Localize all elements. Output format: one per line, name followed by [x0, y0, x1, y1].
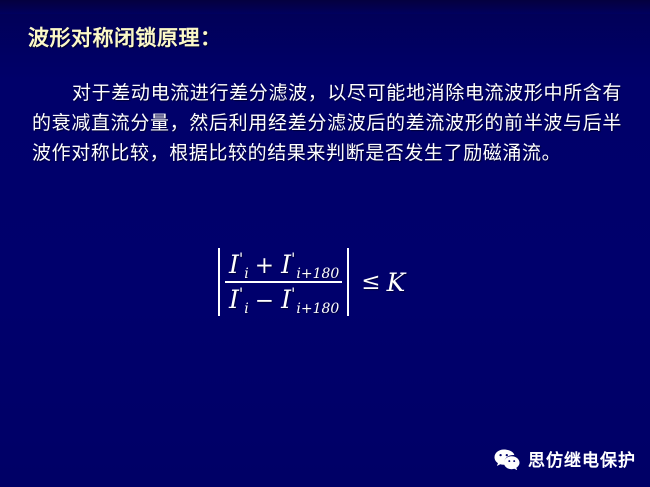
fraction-denominator: I'i − I'i+180 [225, 283, 342, 316]
numerator-left-variable: I [229, 250, 239, 279]
wechat-icon [494, 448, 520, 470]
fraction: I'i + I'i+180 I'i − I'i+180 [225, 248, 342, 316]
numerator-left-subscript: i [244, 266, 248, 282]
body-paragraph: 对于差动电流进行差分滤波，以尽可能地消除电流波形中所含有的衰减直流分量，然后利用… [32, 78, 622, 168]
denominator-left-variable: I [229, 285, 239, 314]
denominator-left-subscript: i [244, 301, 248, 317]
fraction-numerator: I'i + I'i+180 [225, 248, 342, 281]
relation-symbol: ≤ [361, 269, 380, 295]
watermark: 思仿继电保护 [494, 446, 636, 471]
denominator-left-prime: ' [239, 284, 243, 303]
threshold-constant: K [387, 268, 406, 297]
denominator-operator: − [255, 288, 274, 314]
denominator-right-prime: ' [291, 284, 295, 303]
denominator-right-subscript: i+180 [296, 301, 339, 317]
numerator-right-variable: I [281, 250, 291, 279]
page-title: 波形对称闭锁原理： [28, 22, 222, 52]
absolute-value-group: I'i + I'i+180 I'i − I'i+180 [213, 248, 354, 316]
absolute-bar-right [347, 248, 349, 316]
denominator-right-variable: I [281, 285, 291, 314]
watermark-label: 思仿继电保护 [528, 446, 636, 471]
numerator-left-prime: ' [239, 249, 243, 268]
numerator-operator: + [255, 253, 274, 279]
numerator-right-subscript: i+180 [296, 266, 339, 282]
numerator-right-prime: ' [291, 249, 295, 268]
absolute-bar-left [218, 248, 220, 316]
slide-canvas: 波形对称闭锁原理： 对于差动电流进行差分滤波，以尽可能地消除电流波形中所含有的衰… [0, 0, 650, 487]
formula-block: I'i + I'i+180 I'i − I'i+180 ≤ K [213, 248, 405, 316]
